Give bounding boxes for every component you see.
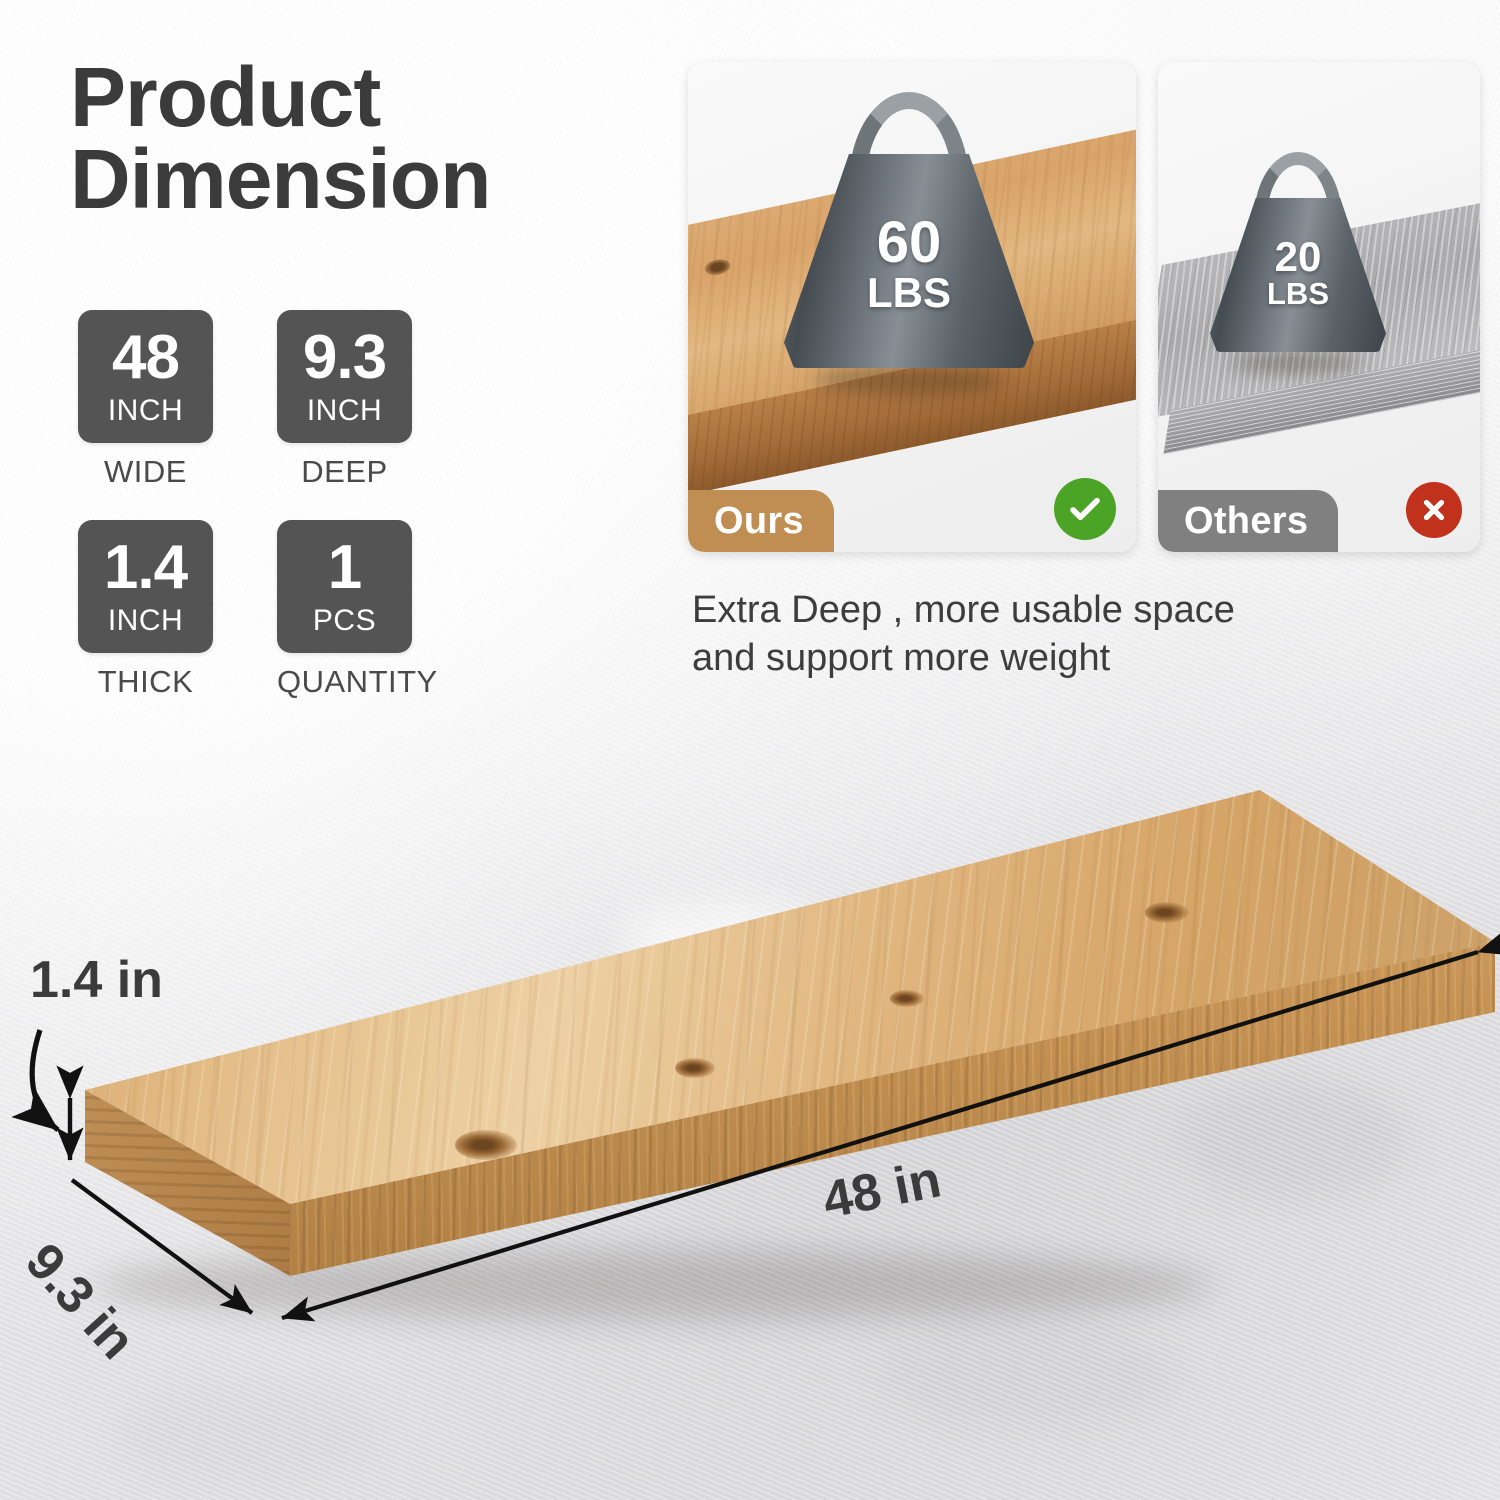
ours-label-pill: Ours (688, 490, 834, 552)
wood-knot (890, 990, 924, 1007)
comparison-card-ours: 60 LBS Ours (688, 62, 1136, 552)
comparison-caption: Extra Deep , more usable space and suppo… (692, 586, 1332, 683)
spec-badge-deep: 9.3 INCH DEEP (277, 310, 412, 490)
wood-shelf-plank (55, 790, 1495, 1350)
page-title-line-2: Dimension (70, 138, 670, 220)
check-icon (1054, 478, 1116, 540)
page-title: Product Dimension (70, 56, 670, 221)
spec-caption-quantity: QUANTITY (277, 664, 412, 700)
ours-label-text: Ours (714, 500, 804, 543)
spec-unit-wide: INCH (108, 396, 183, 426)
spec-value-wide: 48 (112, 327, 179, 389)
spec-badge-quantity: 1 PCS QUANTITY (277, 520, 412, 700)
spec-value-thick: 1.4 (104, 537, 187, 599)
spec-value-deep: 9.3 (303, 327, 386, 389)
spec-chip-thick: 1.4 INCH (78, 520, 213, 653)
spec-badge-wide: 48 INCH WIDE (78, 310, 213, 490)
comparison-card-others: 20 LBS Others (1158, 62, 1480, 552)
spec-value-quantity: 1 (328, 537, 361, 599)
others-weight-icon: 20 LBS (1210, 150, 1386, 370)
spec-unit-deep: INCH (307, 396, 382, 426)
others-weight-unit: LBS (1210, 280, 1386, 309)
spec-chip-wide: 48 INCH (78, 310, 213, 443)
spec-unit-thick: INCH (108, 606, 183, 636)
spec-chip-deep: 9.3 INCH (277, 310, 412, 443)
others-label-text: Others (1184, 500, 1308, 543)
product-photo (0, 760, 1500, 1500)
caption-line-1: Extra Deep , more usable space (692, 586, 1332, 634)
thickness-label: 1.4 in (30, 950, 163, 1010)
spec-row-1: 48 INCH WIDE 9.3 INCH DEEP (78, 310, 498, 490)
caption-line-2: and support more weight (692, 634, 1332, 682)
spec-caption-wide: WIDE (78, 454, 213, 490)
page-title-line-1: Product (70, 56, 670, 138)
wood-knot (455, 1130, 517, 1160)
others-photo: 20 LBS Others (1158, 62, 1480, 552)
others-label-pill: Others (1158, 490, 1338, 552)
ours-weight-icon: 60 LBS (784, 88, 1034, 388)
spec-caption-deep: DEEP (277, 454, 412, 490)
spec-chip-quantity: 1 PCS (277, 520, 412, 653)
spec-row-2: 1.4 INCH THICK 1 PCS QUANTITY (78, 520, 498, 700)
others-weight-value: 20 (1210, 238, 1386, 277)
spec-badge-thick: 1.4 INCH THICK (78, 520, 213, 700)
ours-weight-value: 60 (784, 216, 1034, 269)
spec-caption-thick: THICK (78, 664, 213, 700)
wood-knot (1145, 902, 1189, 923)
ours-photo: 60 LBS Ours (688, 62, 1136, 552)
spec-badge-grid: 48 INCH WIDE 9.3 INCH DEEP 1.4 INCH THIC… (78, 310, 498, 730)
close-icon (1406, 482, 1462, 538)
wood-knot (675, 1058, 715, 1078)
spec-unit-quantity: PCS (313, 606, 376, 636)
ours-weight-unit: LBS (784, 274, 1034, 313)
